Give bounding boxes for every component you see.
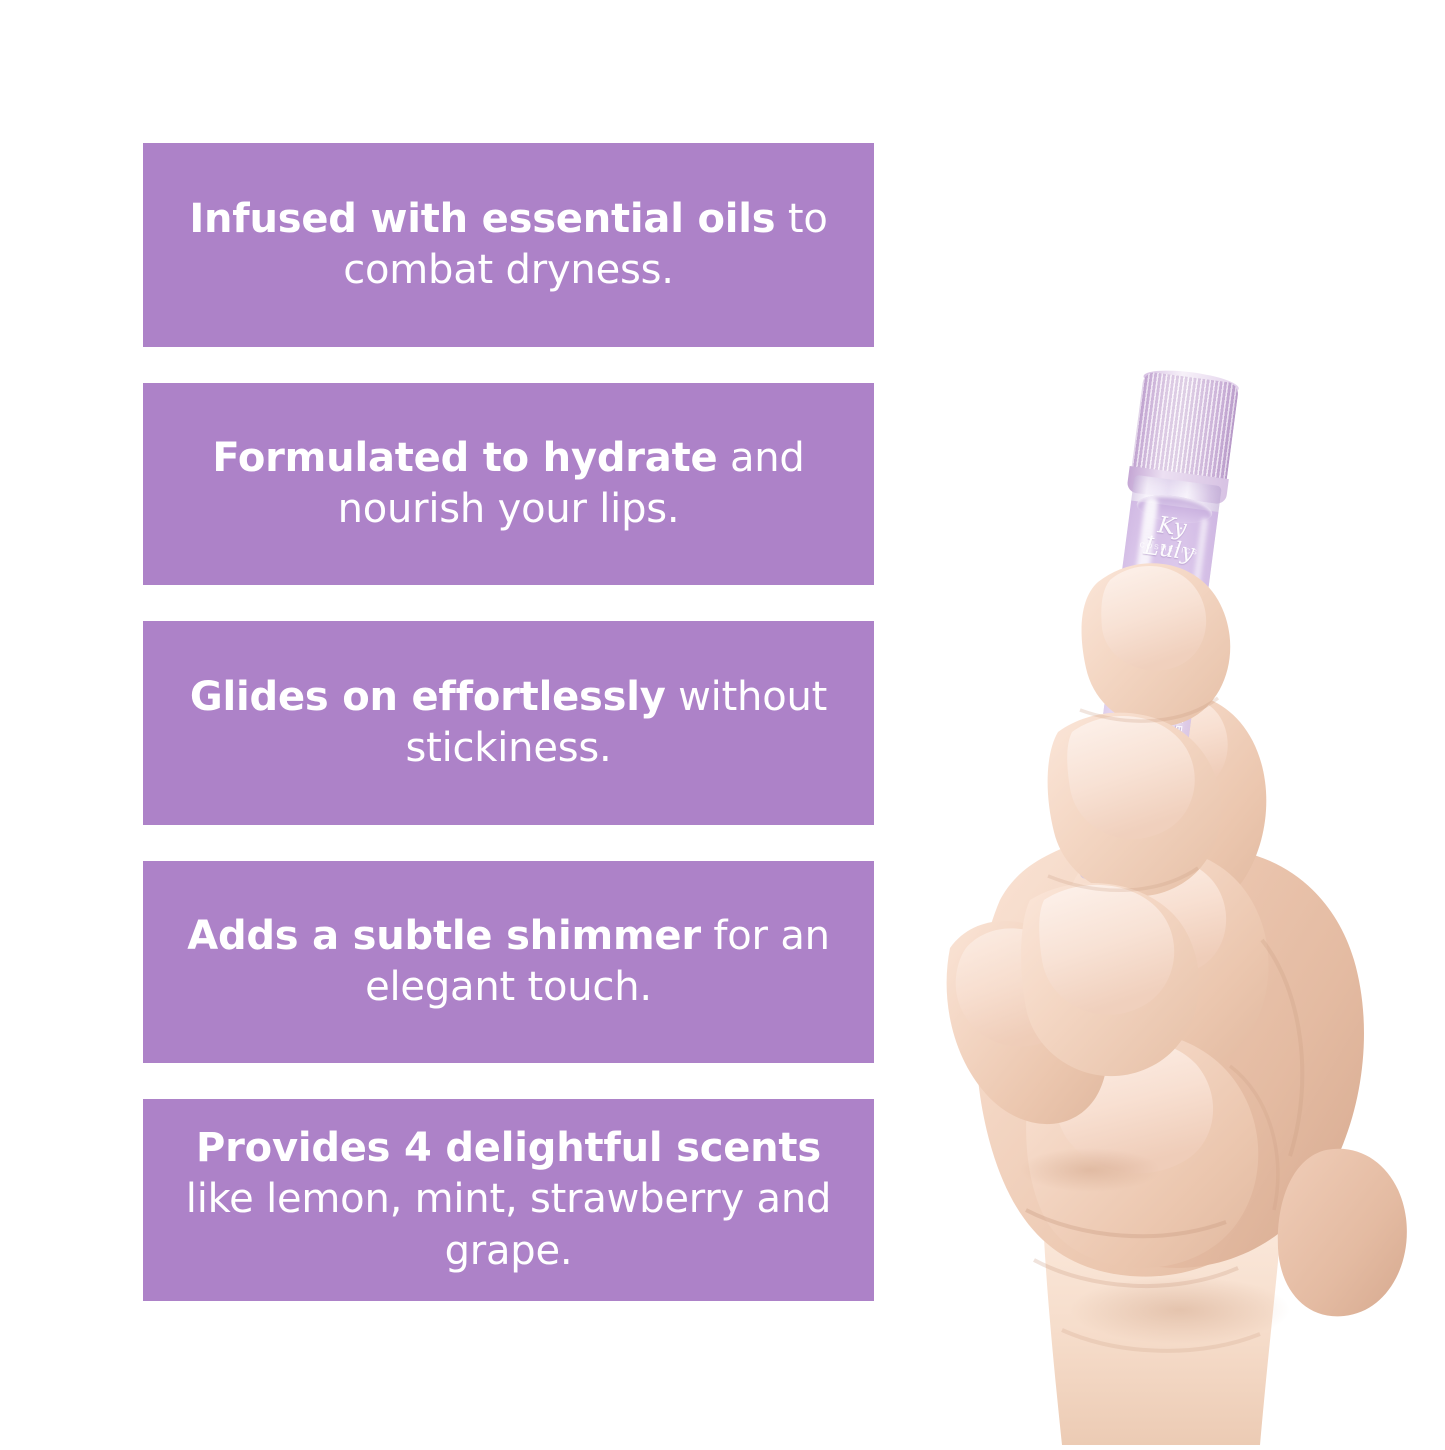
benefit-emphasis: Provides 4 delightful scents xyxy=(196,1125,821,1171)
benefit-panel-effortless-glide: Glides on effortlessly without stickines… xyxy=(143,621,874,825)
benefit-text: Provides 4 delightful scents like lemon,… xyxy=(169,1123,848,1277)
benefit-panel-subtle-shimmer: Adds a subtle shimmer for an elegant tou… xyxy=(143,861,874,1063)
benefits-list: Infused with essential oils to combat dr… xyxy=(143,143,874,1301)
benefit-text: Glides on effortlessly without stickines… xyxy=(169,672,848,774)
benefit-emphasis: Infused with essential oils xyxy=(189,196,775,242)
benefit-panel-hydrate: Formulated to hydrate and nourish your l… xyxy=(143,383,874,585)
product-photo: Ky Luly COSMETICS xyxy=(930,350,1445,1445)
product-feature-graphic: Infused with essential oils to combat dr… xyxy=(0,0,1445,1445)
benefit-text: Formulated to hydrate and nourish your l… xyxy=(169,433,848,535)
benefit-emphasis: Glides on effortlessly xyxy=(190,674,666,720)
benefit-panel-essential-oils: Infused with essential oils to combat dr… xyxy=(143,143,874,347)
grape-cluster-icon xyxy=(1122,607,1179,667)
benefit-text: Adds a subtle shimmer for an elegant tou… xyxy=(169,911,848,1013)
benefit-text: Infused with essential oils to combat dr… xyxy=(169,194,848,296)
benefit-rest: like lemon, mint, strawberry and grape. xyxy=(186,1176,831,1273)
benefit-emphasis: Formulated to hydrate xyxy=(212,435,717,481)
benefit-panel-four-scents: Provides 4 delightful scents like lemon,… xyxy=(143,1099,874,1301)
benefit-emphasis: Adds a subtle shimmer xyxy=(187,913,701,959)
